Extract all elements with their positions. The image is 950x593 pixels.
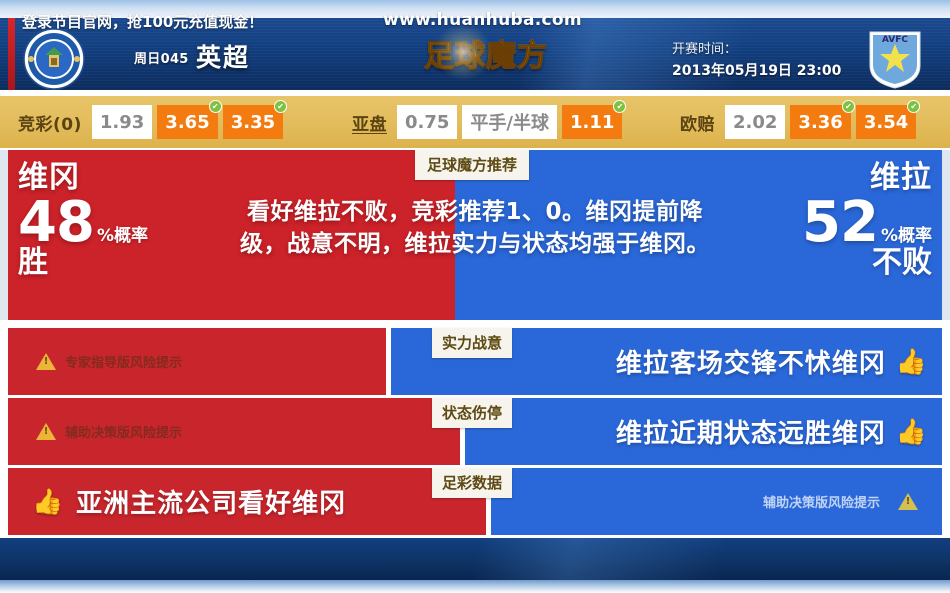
comparison-row: 👍亚洲主流公司看好维冈辅助决策版风险提示足彩数据 — [0, 468, 950, 535]
row-right-text: 维拉客场交锋不怵维冈👍 — [616, 343, 942, 380]
wigan-athletic-crest-icon — [22, 27, 86, 91]
odds-bar: 竞彩(0)1.933.65✔3.35✔亚盘0.75平手/半球1.11✔欧赔2.0… — [0, 96, 950, 148]
row-right-panel: 辅助决策版风险提示 — [491, 468, 942, 535]
odds-cell[interactable]: 平手/半球 — [462, 105, 557, 139]
match-round-label: 周日045 — [134, 48, 189, 67]
warning-triangle-icon — [36, 423, 56, 440]
odds-cell[interactable]: 3.35✔ — [223, 105, 283, 139]
home-team-name: 维冈 — [18, 162, 228, 194]
left-risk-warning: 辅助决策版风险提示 — [8, 422, 182, 441]
row-right-text-label: 维拉客场交锋不怵维冈 — [616, 343, 886, 380]
row-left-panel: 专家指导版风险提示 — [8, 328, 386, 395]
home-probability: 维冈 48 %概率 胜 — [18, 162, 228, 278]
row-right-panel: 维拉近期状态远胜维冈👍 — [465, 398, 942, 465]
check-icon: ✔ — [209, 100, 222, 113]
header-red-accent — [8, 18, 15, 90]
odds-group-title: 欧赔 — [680, 110, 725, 135]
row-left-text: 👍亚洲主流公司看好维冈 — [8, 483, 346, 520]
warning-triangle-icon — [36, 353, 56, 370]
row-left-panel: 👍亚洲主流公司看好维冈 — [8, 468, 486, 535]
odds-cell[interactable]: 3.36✔ — [790, 105, 850, 139]
check-icon: ✔ — [907, 100, 920, 113]
comparison-row: 专家指导版风险提示维拉客场交锋不怵维冈👍实力战意 — [0, 328, 950, 395]
thumbs-up-icon: 👍 — [896, 419, 928, 444]
prediction-infographic: AVFC 周日045 英超 足球魔方 开赛时间： 2013年05月19日 23:… — [0, 0, 950, 593]
aston-villa-crest-icon: AVFC — [866, 28, 924, 90]
comparison-row: 辅助决策版风险提示维拉近期状态远胜维冈👍状态伤停 — [0, 398, 950, 465]
odds-group-0: 竞彩(0)1.933.65✔3.35✔ — [18, 96, 288, 148]
left-risk-warning-text: 专家指导版风险提示 — [65, 352, 182, 371]
home-percent-value: 48 — [18, 196, 94, 249]
kickoff-label: 开赛时间： — [672, 38, 737, 57]
away-percent-value: 52 — [802, 196, 878, 249]
recommendation-tab: 足球魔方推荐 — [415, 150, 529, 180]
warning-triangle-icon — [898, 493, 918, 510]
away-percent-suffix: %概率 — [881, 221, 932, 246]
row-right-text: 维拉近期状态远胜维冈👍 — [616, 413, 942, 450]
thumbs-up-icon: 👍 — [896, 349, 928, 374]
league-name: 英超 — [196, 38, 250, 74]
left-edge — [0, 150, 8, 320]
row-category-tab: 实力战意 — [432, 328, 512, 358]
odds-cell[interactable]: 0.75 — [397, 105, 457, 139]
right-edge — [942, 150, 950, 320]
away-team-name: 维拉 — [722, 162, 932, 194]
thumbs-up-icon: 👍 — [32, 489, 64, 514]
recommendation-text: 看好维拉不败，竞彩推荐1、0。维冈提前降级，战意不明，维拉实力与状态均强于维冈。 — [240, 197, 710, 260]
check-icon: ✔ — [274, 100, 287, 113]
check-icon: ✔ — [613, 100, 626, 113]
right-risk-warning-text: 辅助决策版风险提示 — [763, 492, 880, 511]
odds-group-title: 竞彩(0) — [18, 110, 92, 135]
kickoff-time: 2013年05月19日 23:00 — [672, 60, 841, 80]
right-risk-warning: 辅助决策版风险提示 — [763, 492, 942, 511]
odds-group-2: 欧赔2.023.36✔3.54✔ — [680, 96, 921, 148]
odds-cell[interactable]: 1.93 — [92, 105, 152, 139]
odds-cell[interactable]: 3.54✔ — [856, 105, 916, 139]
brand-logo: 足球魔方 — [410, 30, 562, 76]
check-icon: ✔ — [842, 100, 855, 113]
brand-logo-text: 足球魔方 — [424, 31, 548, 75]
row-left-text-label: 亚洲主流公司看好维冈 — [76, 483, 346, 520]
away-probability: 维拉 52 %概率 不败 — [722, 162, 932, 278]
footer-bar — [0, 538, 950, 580]
svg-text:AVFC: AVFC — [882, 35, 908, 45]
footer-bottom-gradient — [0, 580, 950, 593]
row-category-tab: 足彩数据 — [432, 468, 512, 498]
left-risk-warning-text: 辅助决策版风险提示 — [65, 422, 182, 441]
odds-cell[interactable]: 3.65✔ — [157, 105, 217, 139]
odds-cell[interactable]: 2.02 — [725, 105, 785, 139]
row-category-tab: 状态伤停 — [432, 398, 512, 428]
home-percent-suffix: %概率 — [97, 221, 148, 246]
left-risk-warning: 专家指导版风险提示 — [8, 352, 182, 371]
odds-cell[interactable]: 1.11✔ — [562, 105, 622, 139]
odds-group-1: 亚盘0.75平手/半球1.11✔ — [352, 96, 627, 148]
odds-group-title: 亚盘 — [352, 110, 397, 135]
row-left-panel: 辅助决策版风险提示 — [8, 398, 460, 465]
main-prediction-block: 维冈 48 %概率 胜 维拉 52 %概率 不败 足球魔方推荐 看好维拉不败，竞… — [0, 150, 950, 320]
row-right-text-label: 维拉近期状态远胜维冈 — [616, 413, 886, 450]
